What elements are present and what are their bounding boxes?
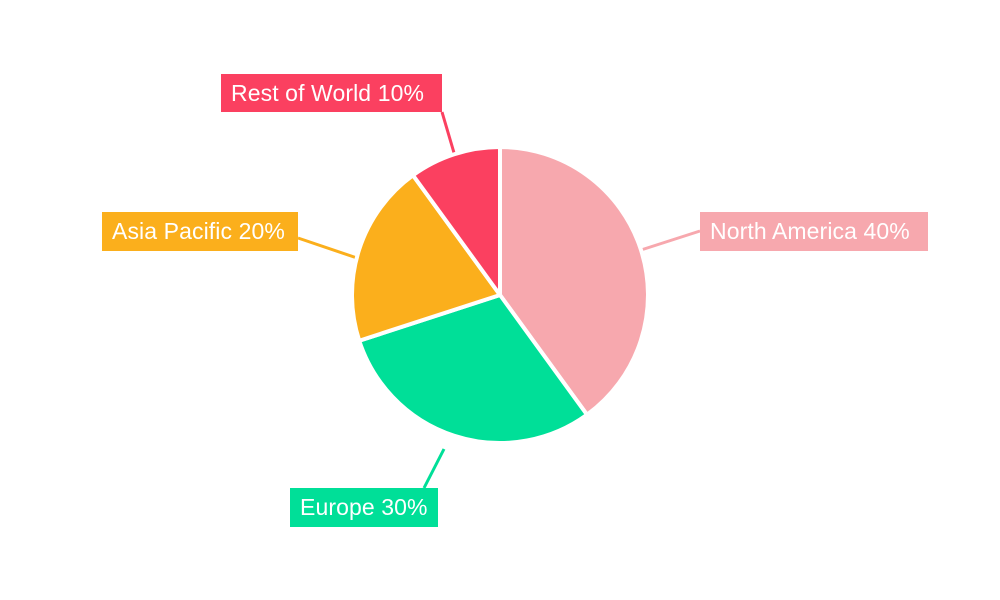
leader-line-north-america xyxy=(641,231,700,250)
pie-label-rest-of-world[interactable]: Rest of World 10% xyxy=(221,74,442,112)
leader-line-asia-pacific xyxy=(298,238,357,258)
pie-label-asia-pacific[interactable]: Asia Pacific 20% xyxy=(102,212,298,251)
pie-label-north-america[interactable]: North America 40% xyxy=(700,212,928,251)
pie-label-europe[interactable]: Europe 30% xyxy=(290,488,438,527)
pie-chart: North America 40%Europe 30%Asia Pacific … xyxy=(0,0,1000,600)
pie-slices-group xyxy=(352,147,648,443)
leader-line-europe xyxy=(424,449,444,488)
pie-chart-canvas xyxy=(0,0,1000,600)
